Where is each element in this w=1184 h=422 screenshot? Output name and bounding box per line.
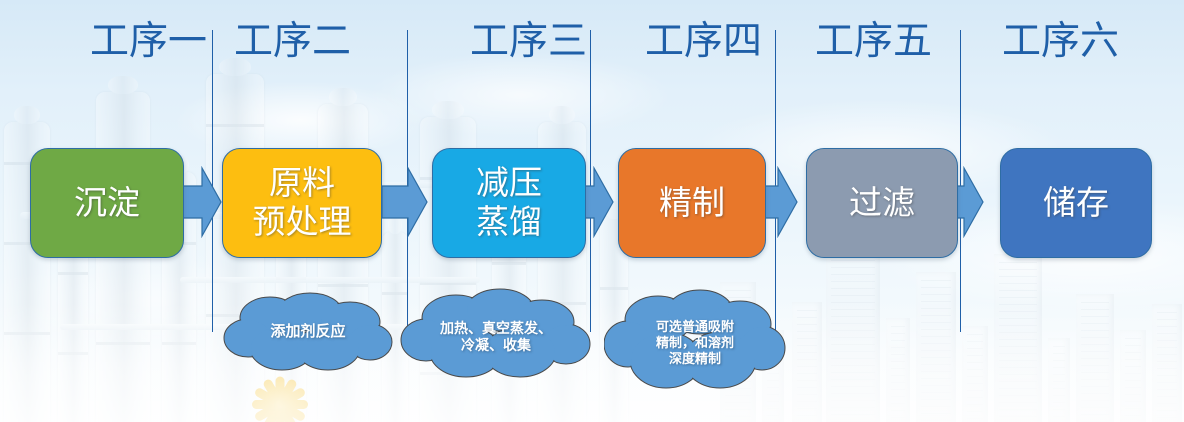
stage-label-1: 工序一 xyxy=(90,22,207,61)
callout-cloud-1: 添加剂反应 xyxy=(222,292,394,374)
stage-label-4: 工序四 xyxy=(645,22,762,61)
callout-text-3: 可选普通吸附 精制，和溶剂 深度精制 xyxy=(604,320,786,368)
callout-text-1: 添加剂反应 xyxy=(222,322,394,340)
ground-haze-overlay xyxy=(0,302,1184,422)
process-box-1-precipitation[interactable]: 沉淀 xyxy=(30,148,184,258)
process-box-5-filtration[interactable]: 过滤 xyxy=(806,148,958,258)
process-box-3-vacuum-distillation[interactable]: 减压 蒸馏 xyxy=(432,148,586,258)
process-box-6-storage[interactable]: 储存 xyxy=(1000,148,1152,258)
process-box-4-refining[interactable]: 精制 xyxy=(618,148,766,258)
stage-label-5: 工序五 xyxy=(815,22,932,61)
callout-cloud-3: 可选普通吸附 精制，和溶剂 深度精制 xyxy=(604,288,786,400)
process-box-2-raw-material-pretreatment[interactable]: 原料 预处理 xyxy=(222,148,382,258)
stage-label-3: 工序三 xyxy=(470,22,587,61)
flow-arrow-2 xyxy=(382,166,428,238)
stage-label-2: 工序二 xyxy=(234,22,351,61)
callout-cloud-2: 加热、真空蒸发、 冷凝、收集 xyxy=(400,288,592,388)
process-flow-diagram: 工序一 工序二 工序三 工序四 工序五 工序六 沉淀 原料 预处理 减压 蒸馏 … xyxy=(0,0,1184,422)
callout-text-2: 加热、真空蒸发、 冷凝、收集 xyxy=(400,321,592,355)
stage-label-6: 工序六 xyxy=(1002,22,1119,61)
